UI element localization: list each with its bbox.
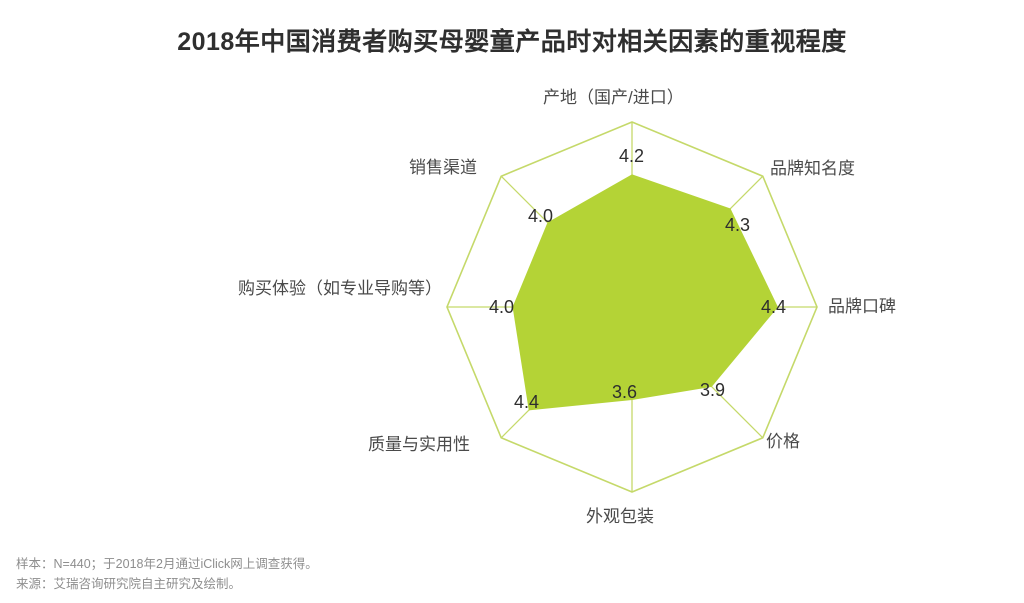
value-label-brand-awareness: 4.3 xyxy=(725,215,750,236)
axis-label-origin: 产地（国产/进口） xyxy=(543,87,684,110)
footnote-source: 来源：艾瑞咨询研究院自主研究及绘制。 xyxy=(16,574,318,595)
axis-label-shopping-experience: 购买体验（如专业导购等） xyxy=(238,278,438,301)
value-label-shopping-experience: 4.0 xyxy=(489,297,514,318)
value-label-quality: 4.4 xyxy=(514,392,539,413)
footnotes: 样本：N=440；于2018年2月通过iClick网上调查获得。 来源：艾瑞咨询… xyxy=(16,554,318,595)
value-label-price: 3.9 xyxy=(700,380,725,401)
radar-chart: 产地（国产/进口） 品牌知名度 品牌口碑 价格 外观包装 质量与实用性 购买体验… xyxy=(0,0,1024,603)
axis-label-quality: 质量与实用性 xyxy=(368,434,470,457)
axis-label-brand-awareness: 品牌知名度 xyxy=(770,158,855,181)
axis-label-brand-reputation: 品牌口碑 xyxy=(828,296,896,319)
value-label-brand-reputation: 4.4 xyxy=(761,297,786,318)
value-label-sales-channel: 4.0 xyxy=(528,206,553,227)
axis-label-packaging: 外观包装 xyxy=(586,506,654,529)
axis-label-sales-channel: 销售渠道 xyxy=(409,157,477,180)
footnote-sample: 样本：N=440；于2018年2月通过iClick网上调查获得。 xyxy=(16,554,318,575)
axis-label-price: 价格 xyxy=(766,431,800,454)
value-label-packaging: 3.6 xyxy=(612,382,637,403)
value-label-origin: 4.2 xyxy=(619,146,644,167)
